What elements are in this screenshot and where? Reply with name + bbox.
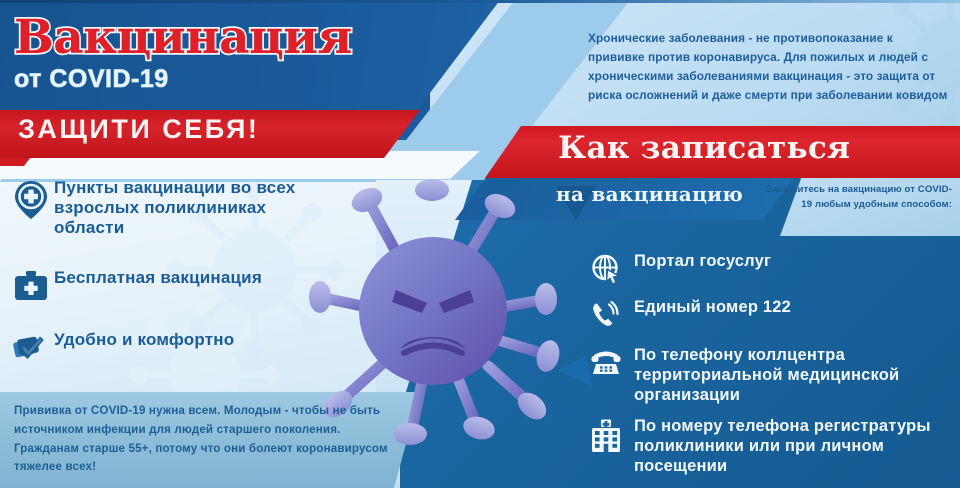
benefit-item: Удобно и комфортно xyxy=(8,330,338,362)
title-call-to-action: ЗАЩИТИ СЕБЯ! xyxy=(18,116,259,143)
registration-method-label: По номеру телефона регистратуры поликлин… xyxy=(634,417,958,476)
globe-cursor-icon xyxy=(578,252,634,284)
registration-method-item: По номеру телефона регистратуры поликлин… xyxy=(578,417,958,476)
how-to-register-subheading: на вакцинацию xyxy=(556,184,743,204)
bottom-left-note: Прививка от COVID-19 нужна всем. Молодым… xyxy=(14,402,404,477)
benefit-label: Удобно и комфортно xyxy=(54,330,234,350)
hospital-building-icon xyxy=(578,417,634,453)
vaccination-poster: Вакцинация от COVID-19 ЗАЩИТИ СЕБЯ! Пунк… xyxy=(0,0,960,488)
registration-method-item: Единый номер 122 xyxy=(578,298,958,330)
poster-title-group: Вакцинация от COVID-19 xyxy=(14,14,434,92)
benefit-item: Пункты вакцинации во всех взрослых полик… xyxy=(8,178,338,238)
registration-method-label: Портал госуслуг xyxy=(634,252,771,272)
top-right-note: Хронические заболевания - не противопока… xyxy=(588,29,948,105)
registration-method-label: Единый номер 122 xyxy=(634,298,791,318)
desk-telephone-icon xyxy=(578,346,634,378)
map-pin-medical-icon xyxy=(8,178,54,220)
benefit-label: Бесплатная вакцинация xyxy=(54,268,262,288)
benefits-list: Пункты вакцинации во всех взрослых полик… xyxy=(8,178,338,380)
signup-note: Запишитесь на вакцинацию от COVID-19 люб… xyxy=(762,183,952,213)
registration-method-item: Портал госуслуг xyxy=(578,252,958,284)
title-subtitle: от COVID-19 xyxy=(14,67,434,92)
title-main: Вакцинация xyxy=(14,14,434,61)
how-to-register-heading: Как записаться xyxy=(558,133,850,164)
benefit-label: Пункты вакцинации во всех взрослых полик… xyxy=(54,178,338,238)
registration-method-item: По телефону коллцентра территориальной м… xyxy=(578,346,958,405)
first-aid-kit-icon xyxy=(8,268,54,302)
registration-methods-list: Портал госуслуг Единый номер 122 xyxy=(578,252,958,488)
decorative-top-line xyxy=(0,0,960,3)
benefit-item: Бесплатная вакцинация xyxy=(8,268,338,302)
registration-method-label: По телефону коллцентра территориальной м… xyxy=(634,346,958,405)
check-documents-icon xyxy=(8,330,54,362)
phone-waves-icon xyxy=(578,298,634,330)
